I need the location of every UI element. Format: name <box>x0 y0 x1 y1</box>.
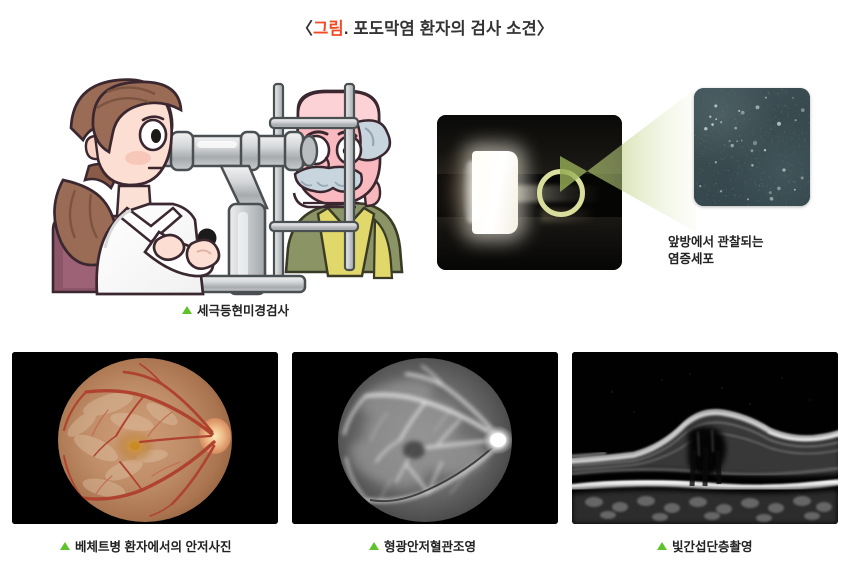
triangle-marker-icon <box>369 542 379 550</box>
fundus-image <box>12 352 278 524</box>
inset-label-line1: 앞방에서 관찰되는 <box>668 234 833 251</box>
fluorescein-angiography-panel <box>292 352 558 524</box>
caption-slit-lamp-exam: 세극등현미경검사 <box>182 300 289 319</box>
inset-label-line2: 염증세포 <box>668 251 833 268</box>
caption-ffa: 형광안저혈관조영 <box>369 536 476 555</box>
slit-beam <box>472 151 518 235</box>
triangle-marker-icon <box>182 306 192 314</box>
doctor-figure <box>54 80 219 294</box>
caption-fundus: 베체트병 환자에서의 안저사진 <box>60 536 231 555</box>
triangle-marker-icon <box>60 542 70 550</box>
figure-container: 〈그림. 포도막염 환자의 검사 소견〉 <box>0 0 850 579</box>
caption-oct: 빛간섭단층촬영 <box>657 536 753 555</box>
caption-ffa-text: 형광안저혈관조영 <box>384 540 476 554</box>
caption-slit-lamp-exam-text: 세극등현미경검사 <box>197 304 289 318</box>
oct-image <box>572 352 838 524</box>
inset-label: 앞방에서 관찰되는 염증세포 <box>668 234 833 268</box>
figure-title-rest: . 포도막염 환자의 검사 소견〉 <box>344 20 554 38</box>
figure-title: 〈그림. 포도막염 환자의 검사 소견〉 <box>0 15 850 39</box>
oct-panel <box>572 352 838 524</box>
slit-lamp-exam-illustration <box>45 62 435 297</box>
magnified-inflammatory-cells-inset <box>694 88 810 206</box>
inflammatory-cell-specks <box>694 88 810 206</box>
caption-oct-text: 빛간섭단층촬영 <box>672 540 753 554</box>
caption-fundus-text: 베체트병 환자에서의 안저사진 <box>75 540 231 554</box>
triangle-marker-icon <box>657 542 667 550</box>
ffa-image <box>292 352 558 524</box>
figure-title-highlight: 그림 <box>313 20 344 38</box>
fundus-photograph-panel <box>12 352 278 524</box>
figure-title-bracket-open: 〈 <box>296 20 313 38</box>
